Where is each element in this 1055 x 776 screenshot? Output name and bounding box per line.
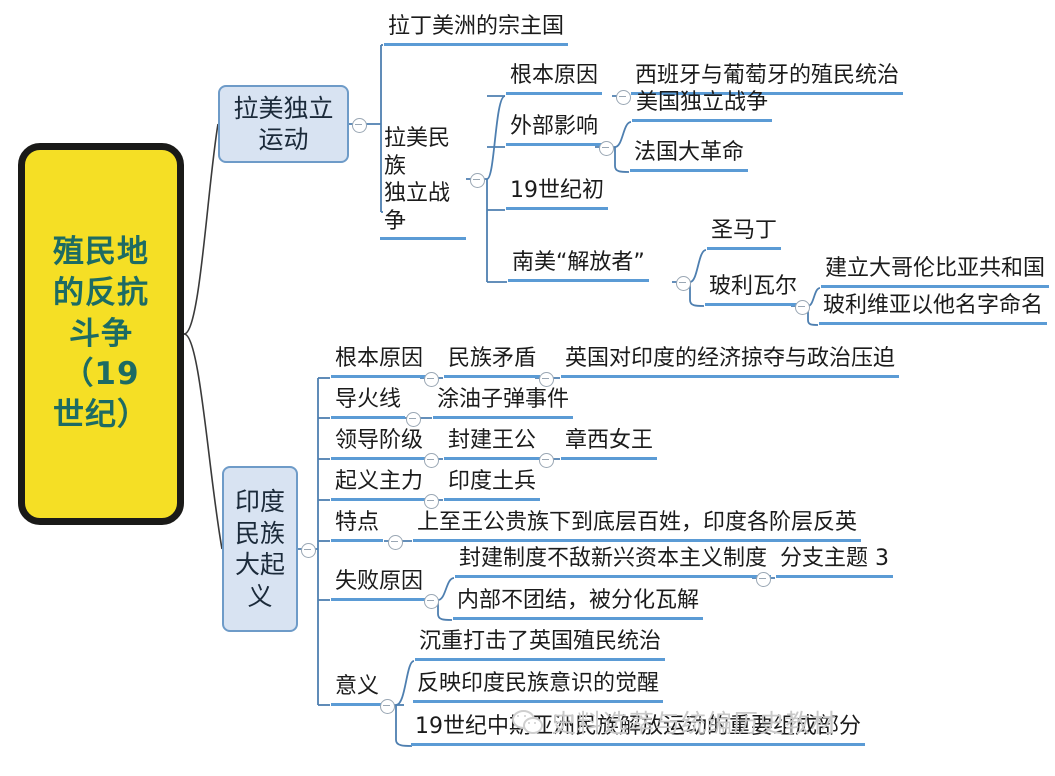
node-bolivia-named[interactable]: 玻利维亚以他名字命名: [819, 295, 1047, 325]
node-latam-suzerain[interactable]: 拉丁美洲的宗主国: [384, 16, 568, 46]
collapse-toggle-latam-external[interactable]: [599, 141, 614, 156]
collapse-toggle-india-main-force[interactable]: [424, 494, 439, 509]
node-latam-root-cause[interactable]: 根本原因: [506, 65, 602, 95]
node-latam-fr-rev[interactable]: 法国大革命: [630, 142, 748, 172]
node-india-leading-class[interactable]: 领导阶级: [331, 430, 427, 460]
node-india-britain-oppression[interactable]: 英国对印度的经济掠夺与政治压迫: [561, 348, 899, 378]
watermark: 史料选萃与统编历史教材: [512, 700, 1032, 744]
collapse-toggle-latam-liberators[interactable]: [676, 276, 691, 291]
node-greased-cartridge[interactable]: 涂油子弹事件: [433, 389, 573, 419]
node-latam-external[interactable]: 外部影响: [506, 116, 602, 146]
branch-node-india[interactable]: 印度 民族 大起 义: [222, 466, 298, 632]
node-latam-liberators[interactable]: 南美“解放者”: [508, 252, 649, 282]
node-feudal-vs-capitalist[interactable]: 封建制度不敌新兴资本主义制度: [455, 548, 771, 578]
collapse-toggle-india-features[interactable]: [388, 535, 403, 550]
node-india-ethnic-conflict[interactable]: 民族矛盾: [444, 348, 540, 378]
node-latam-us-war[interactable]: 美国独立战争: [632, 92, 772, 122]
node-india-failure[interactable]: 失败原因: [331, 571, 427, 601]
node-sepoys[interactable]: 印度土兵: [444, 471, 540, 501]
node-subtopic-3[interactable]: 分支主题 3: [776, 548, 893, 578]
collapse-toggle-india-failure[interactable]: [424, 594, 439, 609]
collapse-toggle-latam-war[interactable]: [470, 173, 485, 188]
node-latam-19c[interactable]: 19世纪初: [506, 180, 608, 210]
node-gran-colombia[interactable]: 建立大哥伦比亚共和国: [821, 258, 1049, 288]
node-feudal-princes[interactable]: 封建王公: [444, 430, 540, 460]
watermark-text: 史料选萃与统编历史教材: [551, 704, 837, 740]
node-blow-british-rule[interactable]: 沉重打击了英国殖民统治: [415, 631, 665, 661]
node-latam-war[interactable]: 拉美民族 独立战争: [380, 125, 466, 240]
collapse-toggle-india-significance[interactable]: [380, 699, 395, 714]
node-rani-jhansi[interactable]: 章西女王: [561, 430, 657, 460]
node-disunity[interactable]: 内部不团结，被分化瓦解: [453, 590, 703, 620]
node-bolivar[interactable]: 玻利瓦尔: [705, 276, 801, 306]
node-all-classes[interactable]: 上至王公贵族下到底层百姓，印度各阶层反英: [413, 512, 861, 542]
collapse-toggle-india[interactable]: [301, 543, 316, 558]
node-san-martin[interactable]: 圣马丁: [707, 220, 781, 250]
collapse-toggle-india-leading-class[interactable]: [424, 453, 439, 468]
collapse-toggle-latam-root-cause[interactable]: [616, 90, 631, 105]
node-national-awakening[interactable]: 反映印度民族意识的觉醒: [413, 673, 663, 703]
branch-node-latam[interactable]: 拉美独立 运动: [218, 85, 349, 163]
collapse-toggle-india-trigger[interactable]: [406, 412, 421, 427]
node-india-significance[interactable]: 意义: [331, 676, 383, 706]
collapse-toggle-latam[interactable]: [352, 118, 367, 133]
node-india-trigger[interactable]: 导火线: [331, 389, 405, 419]
node-india-main-force[interactable]: 起义主力: [331, 471, 427, 501]
collapse-toggle-bolivar[interactable]: [795, 300, 810, 315]
node-india-features[interactable]: 特点: [331, 512, 383, 542]
collapse-toggle-feudal-princes[interactable]: [539, 453, 554, 468]
mindmap-canvas: 殖民地 的反抗 斗争 （19 世纪） 拉美独立 运动 拉丁美洲的宗主国 拉美民族…: [0, 0, 1055, 776]
collapse-toggle-feudal-vs-capitalist[interactable]: [756, 572, 771, 587]
wechat-icon: [512, 710, 542, 734]
node-india-root-cause[interactable]: 根本原因: [331, 348, 427, 378]
root-node[interactable]: 殖民地 的反抗 斗争 （19 世纪）: [18, 143, 184, 525]
